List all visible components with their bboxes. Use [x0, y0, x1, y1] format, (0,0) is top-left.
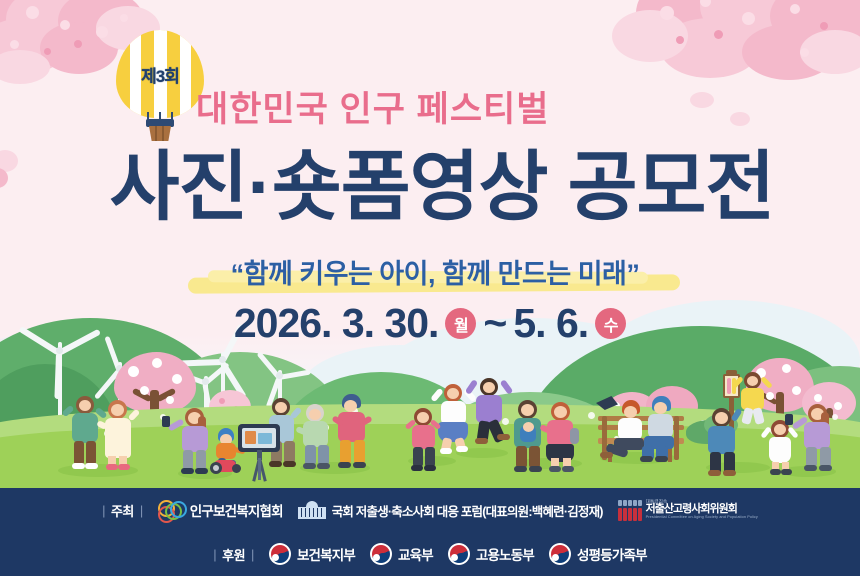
- person-figure: [96, 400, 144, 470]
- divider-left: |: [102, 503, 105, 518]
- taegeuk-government-icon: [549, 543, 571, 565]
- hot-air-balloon: 제3회: [116, 30, 204, 142]
- kicker-text: 대한민국 인구 페스티벌: [196, 92, 716, 127]
- slogan-block: “함께 키우는 아이, 함께 만드는 미래”: [180, 252, 690, 296]
- host-label-group: | 주최 |: [102, 501, 143, 520]
- presidential-committee-logo[interactable]: 대통령직속 저출산고령사회위원회 Presidential Committee …: [618, 499, 758, 521]
- presidential-committee-icon: [618, 499, 642, 521]
- sponsor-label-group: | 후원 |: [213, 545, 254, 564]
- host-label: 주최: [111, 501, 134, 520]
- balloon-basket: [149, 126, 171, 141]
- footer-bar: | 주최 | 인구보건복지협회 국회 저출: [0, 488, 860, 576]
- sponsor-org-2[interactable]: 고용노동부: [448, 543, 534, 565]
- start-date: 2026. 3. 30.: [234, 300, 439, 347]
- poster: 제3회 대한민국 인구 페스티벌 사진·숏폼영상 공모전 “함께 키우는 아이,…: [0, 0, 860, 576]
- end-date: 5. 6.: [513, 300, 588, 347]
- person-figure: [796, 404, 842, 472]
- host-org-1[interactable]: 국회 저출생·축소사회 대응 포럼(대표의원:백혜련·김정재): [298, 501, 603, 520]
- rings-logo-icon: [158, 500, 184, 520]
- camera-tripod: [236, 424, 282, 482]
- sponsor-org-1-label: 교육부: [398, 544, 433, 564]
- taegeuk-government-icon: [370, 543, 392, 565]
- person-figure: [734, 372, 776, 426]
- balloon-band: [146, 119, 174, 127]
- sponsor-org-1[interactable]: 교육부: [370, 543, 433, 565]
- presidential-committee-text: 대통령직속 저출산고령사회위원회 Presidential Committee …: [646, 500, 758, 520]
- divider-left: |: [213, 547, 216, 562]
- sponsor-label: 후원: [222, 545, 245, 564]
- host-org-1-label: 국회 저출생·축소사회 대응 포럼(대표의원:백혜련·김정재): [332, 501, 603, 520]
- person-figure: [540, 402, 586, 472]
- person-figure: [640, 396, 686, 462]
- person-figure: [330, 394, 378, 470]
- sponsor-org-2-label: 고용노동부: [476, 544, 534, 564]
- end-day-badge: 수: [595, 308, 626, 339]
- host-org-0[interactable]: 인구보건복지협회: [158, 500, 283, 520]
- person-figure: [404, 408, 446, 472]
- committee-name: 저출산고령사회위원회: [646, 504, 758, 515]
- divider-right: |: [251, 547, 254, 562]
- taegeuk-government-icon: [448, 543, 470, 565]
- edition-badge-label: 제3회: [116, 62, 204, 87]
- sponsor-row: | 후원 | 보건복지부 교육부 고용노동부: [0, 532, 860, 576]
- host-org-0-label: 인구보건복지협회: [190, 500, 283, 520]
- slogan-text: “함께 키우는 아이, 함께 만드는 미래”: [180, 252, 690, 291]
- page-title: 사진·숏폼영상 공모전: [62, 150, 822, 226]
- host-row: | 주최 | 인구보건복지협회 국회 저출: [0, 488, 860, 532]
- sponsor-org-3-label: 성평등가족부: [577, 544, 647, 564]
- sponsor-org-3[interactable]: 성평등가족부: [549, 543, 647, 565]
- taegeuk-government-icon: [269, 543, 291, 565]
- sponsor-org-0-label: 보건복지부: [297, 544, 355, 564]
- sponsor-org-0[interactable]: 보건복지부: [269, 543, 355, 565]
- assembly-building-icon: [298, 501, 326, 519]
- date-tilde: ~: [483, 300, 506, 347]
- date-range: 2026. 3. 30. 월 ~ 5. 6. 수: [150, 300, 710, 347]
- divider-right: |: [140, 503, 143, 518]
- petal: [588, 412, 595, 419]
- start-day-badge: 월: [445, 308, 476, 339]
- committee-english: Presidential Committee on Aging Society …: [646, 516, 758, 520]
